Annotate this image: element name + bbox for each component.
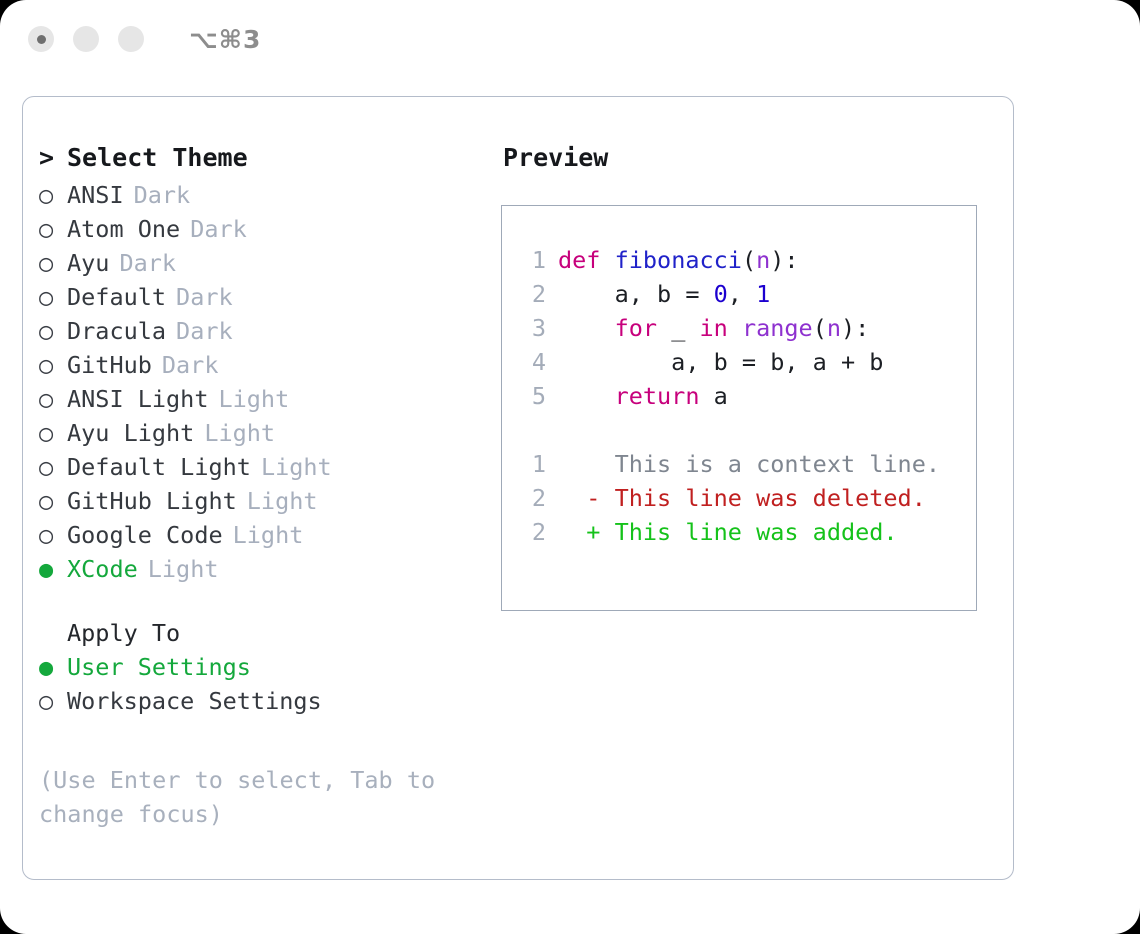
theme-variant-label: Light: [204, 419, 275, 447]
diff-sample: 1 This is a context line.2 - This line w…: [516, 450, 976, 552]
theme-name-label: ANSI Light: [67, 385, 208, 413]
line-number: 4: [516, 348, 546, 376]
code-token-plain: [558, 314, 615, 342]
code-token-kw: in: [700, 314, 728, 342]
theme-name-label: GitHub Light: [67, 487, 237, 515]
theme-variant-label: Dark: [162, 351, 219, 379]
theme-variant-label: Dark: [176, 283, 233, 311]
apply-to-option-label: Workspace Settings: [67, 687, 322, 715]
radio-unselected-icon: ○: [39, 184, 67, 208]
app-window: ⌥⌘3 > Select Theme ○ANSIDark○Atom OneDar…: [0, 0, 1140, 934]
theme-list-item[interactable]: ○GitHub LightLight: [39, 487, 491, 521]
radio-unselected-icon: ○: [39, 320, 67, 344]
code-token-var: n: [827, 314, 841, 342]
code-line-content: a, b = b, a + b: [558, 348, 883, 376]
theme-name-label: ANSI: [67, 181, 124, 209]
theme-name-label: GitHub: [67, 351, 152, 379]
radio-unselected-icon: ○: [39, 218, 67, 242]
theme-list-item[interactable]: ○AyuDark: [39, 249, 491, 283]
code-token-kw: def: [558, 246, 600, 274]
code-token-plain: a, b = b, a + b: [558, 348, 883, 376]
theme-list-item[interactable]: ○Atom OneDark: [39, 215, 491, 249]
radio-unselected-icon: ○: [39, 388, 67, 412]
radio-unselected-icon: ○: [39, 286, 67, 310]
code-token-pun: ):: [770, 246, 798, 274]
keyboard-shortcut-label: ⌥⌘3: [189, 25, 261, 54]
code-line-content: for _ in range(n):: [558, 314, 869, 342]
theme-variant-label: Light: [233, 521, 304, 549]
code-line-content: def fibonacci(n):: [558, 246, 799, 274]
theme-variant-label: Light: [148, 555, 219, 583]
radio-unselected-icon: ○: [39, 252, 67, 276]
code-preview-box: 1def fibonacci(n):2 a, b = 0, 13 for _ i…: [501, 205, 977, 611]
code-line: 2 a, b = 0, 1: [516, 280, 976, 314]
line-number: 2: [516, 518, 546, 546]
code-token-var: range: [742, 314, 813, 342]
diff-line: 2 + This line was added.: [516, 518, 976, 552]
code-token-plain: _: [657, 314, 699, 342]
code-token-plain: [600, 246, 614, 274]
radio-unselected-icon: ○: [39, 456, 67, 480]
theme-list-item[interactable]: ○Ayu LightLight: [39, 419, 491, 453]
code-sample: 1def fibonacci(n):2 a, b = 0, 13 for _ i…: [516, 246, 976, 416]
theme-variant-label: Light: [261, 453, 332, 481]
theme-list-item[interactable]: ○GitHubDark: [39, 351, 491, 385]
traffic-light-group: [28, 26, 144, 52]
code-token-plain: [558, 382, 615, 410]
code-token-pun: (: [742, 246, 756, 274]
theme-name-label: Google Code: [67, 521, 223, 549]
theme-variant-label: Light: [247, 487, 318, 515]
theme-name-label: Ayu Light: [67, 419, 194, 447]
radio-unselected-icon: ○: [39, 422, 67, 446]
select-theme-heading: > Select Theme: [39, 143, 491, 181]
traffic-light-dot-2[interactable]: [73, 26, 99, 52]
apply-to-marker-placeholder: ○: [39, 622, 67, 646]
diff-line: 2 - This line was deleted.: [516, 484, 976, 518]
theme-name-label: Atom One: [67, 215, 180, 243]
radio-unselected-icon: ○: [39, 524, 67, 548]
apply-to-list: ●User Settings○Workspace Settings: [39, 653, 491, 721]
code-token-kw: for: [615, 314, 657, 342]
code-token-kw: return: [615, 382, 700, 410]
theme-name-label: Dracula: [67, 317, 166, 345]
diff-line: 1 This is a context line.: [516, 450, 976, 484]
theme-list-item[interactable]: ○Default LightLight: [39, 453, 491, 487]
radio-unselected-icon: ○: [39, 490, 67, 514]
code-token-plain: [728, 314, 742, 342]
theme-name-label: XCode: [67, 555, 138, 583]
list-gap-spacer: [39, 589, 491, 619]
line-number: 5: [516, 382, 546, 410]
prompt-caret-icon: >: [39, 145, 67, 170]
radio-unselected-icon: ○: [39, 354, 67, 378]
hint-gap-spacer: [39, 721, 491, 763]
apply-to-option-label: User Settings: [67, 653, 251, 681]
code-token-num: 1: [756, 280, 770, 308]
theme-name-label: Default: [67, 283, 166, 311]
code-token-var: n: [756, 246, 770, 274]
code-line-content: return a: [558, 382, 728, 410]
theme-variant-label: Dark: [119, 249, 176, 277]
theme-list-item[interactable]: ○ANSI LightLight: [39, 385, 491, 419]
code-token-plain: a, b =: [558, 280, 714, 308]
theme-variant-label: Dark: [134, 181, 191, 209]
code-token-plain: ,: [728, 280, 756, 308]
main-panel: > Select Theme ○ANSIDark○Atom OneDark○Ay…: [22, 96, 1014, 880]
code-line: 3 for _ in range(n):: [516, 314, 976, 348]
theme-name-label: Default Light: [67, 453, 251, 481]
code-token-pun: ):: [841, 314, 869, 342]
code-token-num: 0: [714, 280, 728, 308]
diff-line-content-add: + This line was added.: [558, 518, 898, 546]
theme-list-item[interactable]: ○ANSIDark: [39, 181, 491, 215]
code-token-pun: (: [813, 314, 827, 342]
theme-variant-label: Light: [218, 385, 289, 413]
theme-list-item[interactable]: ●XCodeLight: [39, 555, 491, 589]
title-bar: ⌥⌘3: [0, 0, 1140, 78]
theme-list-item[interactable]: ○DefaultDark: [39, 283, 491, 317]
code-line-content: a, b = 0, 1: [558, 280, 770, 308]
theme-name-label: Ayu: [67, 249, 109, 277]
apply-to-heading: ○ Apply To: [39, 619, 491, 653]
code-token-fn: fibonacci: [615, 246, 742, 274]
keyboard-hint-text: (Use Enter to select, Tab to change focu…: [39, 763, 449, 831]
traffic-light-dot-3[interactable]: [118, 26, 144, 52]
code-token-plain: a: [699, 382, 727, 410]
code-line: 5 return a: [516, 382, 976, 416]
theme-selector-column: > Select Theme ○ANSIDark○Atom OneDark○Ay…: [23, 143, 491, 879]
theme-variant-label: Dark: [190, 215, 247, 243]
line-number: 3: [516, 314, 546, 342]
line-number: 2: [516, 280, 546, 308]
theme-variant-label: Dark: [176, 317, 233, 345]
traffic-light-active-dot[interactable]: [28, 26, 54, 52]
theme-list-item[interactable]: ○Google CodeLight: [39, 521, 491, 555]
line-number: 2: [516, 484, 546, 512]
diff-line-content-ctx: This is a context line.: [558, 450, 940, 478]
preview-title: Preview: [503, 143, 1013, 172]
preview-column: Preview 1def fibonacci(n):2 a, b = 0, 13…: [491, 143, 1013, 879]
code-line: 1def fibonacci(n):: [516, 246, 976, 280]
active-dot-inner-icon: [37, 35, 46, 44]
radio-selected-icon: ●: [39, 558, 67, 582]
apply-to-option[interactable]: ○Workspace Settings: [39, 687, 491, 721]
line-number: 1: [516, 450, 546, 478]
code-diff-separator: [516, 416, 976, 450]
apply-to-option[interactable]: ●User Settings: [39, 653, 491, 687]
diff-line-content-del: - This line was deleted.: [558, 484, 926, 512]
line-number: 1: [516, 246, 546, 274]
theme-list-item[interactable]: ○DraculaDark: [39, 317, 491, 351]
radio-selected-icon: ●: [39, 656, 67, 680]
theme-list: ○ANSIDark○Atom OneDark○AyuDark○DefaultDa…: [39, 181, 491, 589]
radio-unselected-icon: ○: [39, 690, 67, 714]
code-line: 4 a, b = b, a + b: [516, 348, 976, 382]
